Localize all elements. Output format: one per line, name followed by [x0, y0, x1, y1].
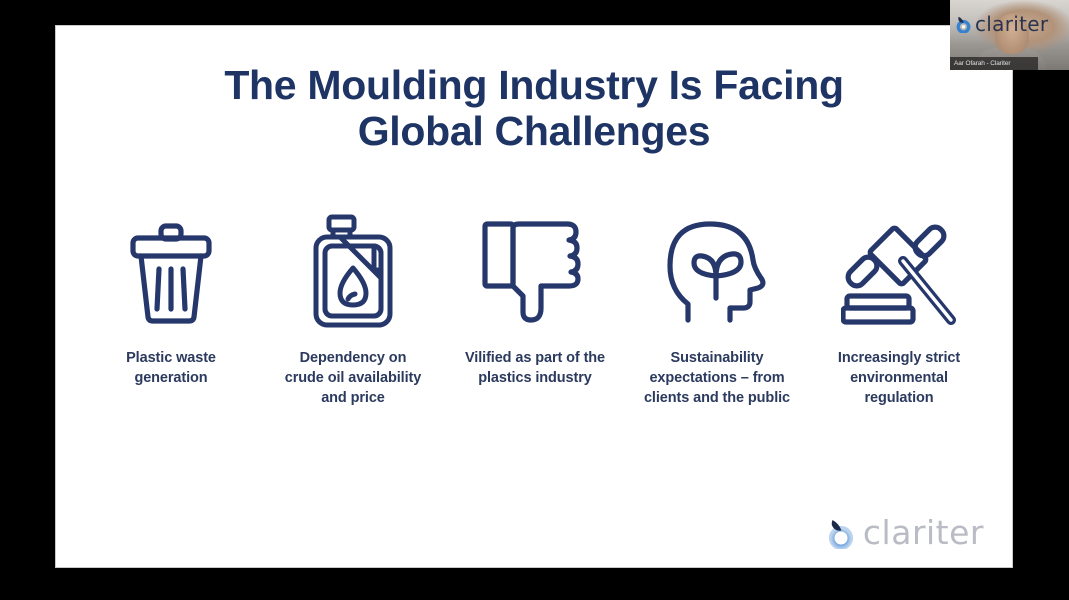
- page-title-line-1: The Moulding Industry Is Facing: [56, 63, 1012, 109]
- challenge-card-label: Dependency oncrude oil availabilityand p…: [281, 348, 425, 408]
- webcam-clariter-logo: clariter: [955, 14, 1048, 34]
- page-title: The Moulding Industry Is Facing Global C…: [56, 63, 1012, 155]
- clariter-ring-icon: [826, 517, 856, 549]
- clariter-wordmark: clariter: [975, 14, 1048, 34]
- challenge-card-sustainability: Sustainabilityexpectations – fromclients…: [626, 212, 808, 408]
- page-title-line-2: Global Challenges: [56, 109, 1012, 155]
- challenge-card-vilified: Vilified as part of theplastics industry: [444, 212, 626, 388]
- webcam-participant-name: Aar Ofarah - Clariter: [950, 60, 1010, 67]
- challenge-card-label: Plastic wastegeneration: [122, 348, 220, 388]
- webcam-video-tile[interactable]: clariter Aar Ofarah - Clariter: [950, 0, 1069, 70]
- trash-bin-icon: [125, 212, 217, 332]
- webcam-name-label: Aar Ofarah - Clariter: [950, 57, 1038, 70]
- challenge-card-crude-oil: Dependency oncrude oil availabilityand p…: [262, 212, 444, 408]
- challenge-card-label: Vilified as part of theplastics industry: [461, 348, 609, 388]
- clariter-logo: clariter: [826, 516, 984, 549]
- presentation-viewer: The Moulding Industry Is Facing Global C…: [0, 0, 1069, 600]
- challenge-card-label: Increasingly strictenvironmentalregulati…: [834, 348, 964, 408]
- slide-canvas: The Moulding Industry Is Facing Global C…: [55, 25, 1013, 568]
- clariter-ring-icon: [955, 15, 972, 33]
- challenge-card-regulation: Increasingly strictenvironmentalregulati…: [808, 212, 990, 408]
- challenge-card-row: Plastic wastegeneration De: [80, 212, 990, 408]
- gavel-icon: [841, 212, 957, 332]
- clariter-wordmark: clariter: [863, 516, 984, 549]
- jerrycan-oil-icon: [310, 212, 396, 332]
- head-sprout-icon: [658, 212, 776, 332]
- thumbs-down-icon: [479, 212, 591, 332]
- challenge-card-plastic-waste: Plastic wastegeneration: [80, 212, 262, 388]
- challenge-card-label: Sustainabilityexpectations – fromclients…: [640, 348, 794, 408]
